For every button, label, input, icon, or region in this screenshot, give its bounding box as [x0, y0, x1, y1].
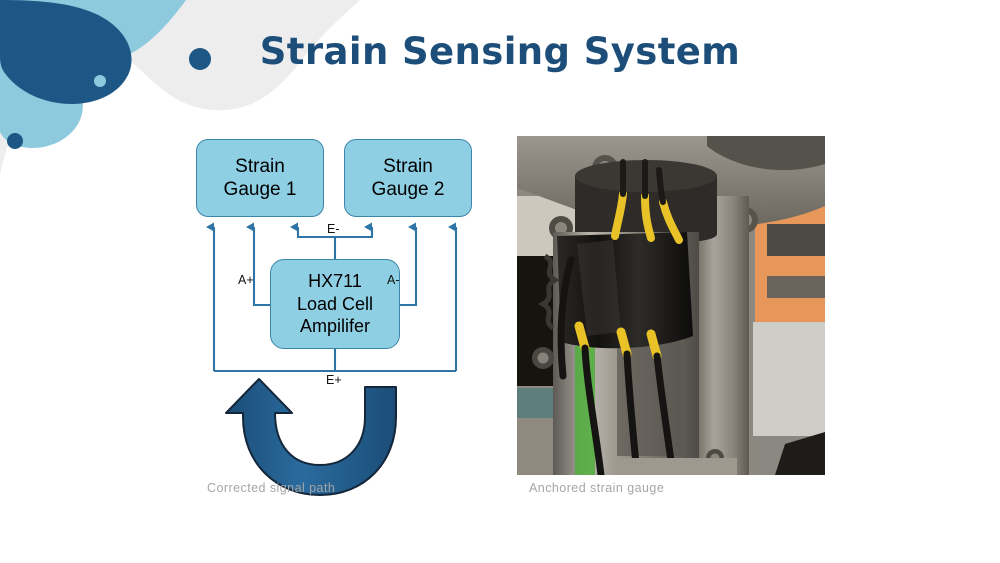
photo-base-plate [617, 458, 737, 475]
photo-bolt-lower-left-inner [538, 353, 549, 364]
photo-bg-window-dark-2 [767, 276, 825, 298]
wire-label-a-plus: A+ [238, 273, 254, 287]
wire-label-e-minus: E- [327, 222, 340, 236]
block-strain-gauge-2[interactable]: Strain Gauge 2 [344, 139, 472, 217]
gauge-2-line1: Strain [383, 155, 433, 178]
amplifier-line2: Load Cell [297, 293, 373, 316]
wire-e-minus-right [335, 227, 372, 237]
photo-bg-window-dark [767, 224, 825, 256]
page-title: Strain Sensing System [0, 30, 1000, 73]
signal-loop-arrow [226, 379, 396, 495]
amplifier-line1: HX711 [308, 270, 362, 293]
wire-a-plus [254, 227, 270, 305]
diagram-caption: Corrected signal path [207, 481, 335, 495]
wire-label-a-minus: A- [387, 273, 400, 287]
block-hx711-amplifier[interactable]: HX711 Load Cell Ampilifer [270, 259, 400, 349]
gauge-2-line2: Gauge 2 [372, 178, 445, 201]
gauge-1-line1: Strain [235, 155, 285, 178]
signal-path-diagram: Strain Gauge 1 Strain Gauge 2 HX711 Load… [180, 125, 500, 505]
block-strain-gauge-1[interactable]: Strain Gauge 1 [196, 139, 324, 217]
decor-dot-light-blue [94, 75, 106, 87]
anchored-strain-gauge-photo [517, 136, 825, 475]
decor-dot-navy-small [7, 133, 23, 149]
photo-bg-equipment-grey [753, 322, 825, 452]
amplifier-line3: Ampilifer [300, 315, 370, 338]
wire-a-minus [400, 227, 416, 305]
gauge-1-line2: Gauge 1 [224, 178, 297, 201]
wire-label-e-plus: E+ [326, 373, 342, 387]
photo-caption: Anchored strain gauge [529, 481, 664, 495]
